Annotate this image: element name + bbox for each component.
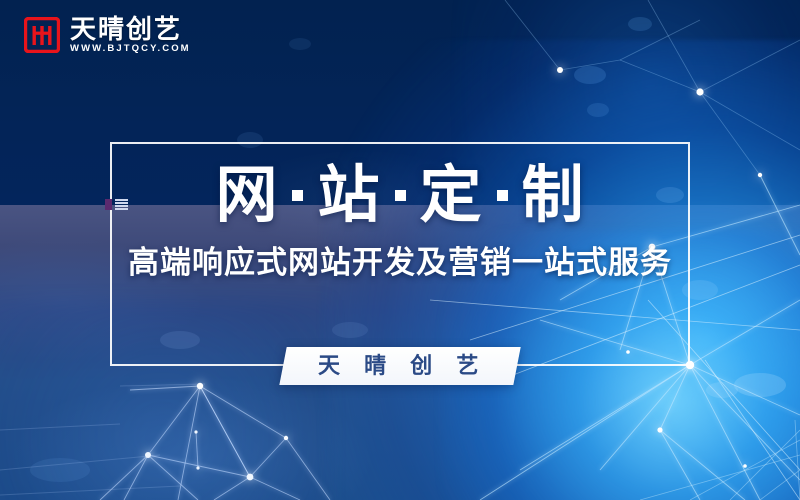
headline-char-2: 站 xyxy=(317,165,380,227)
site-logo[interactable]: 天晴创艺 WWW.BJTQCY.COM xyxy=(24,16,191,54)
brand-badge-row: 天 晴 创 艺 xyxy=(0,344,800,388)
headline-char-4: 制 xyxy=(522,165,585,227)
promo-banner: 天晴创艺 WWW.BJTQCY.COM 网 站 定 制 高端响应式网站开发及营销… xyxy=(0,0,800,500)
square-dot-icon xyxy=(395,190,406,201)
hero-headline: 网 站 定 制 xyxy=(0,165,800,227)
logo-website-url: WWW.BJTQCY.COM xyxy=(70,44,191,54)
square-dot-icon xyxy=(497,190,508,201)
brand-badge-label: 天 晴 创 艺 xyxy=(313,354,487,378)
headline-char-1: 网 xyxy=(215,165,278,227)
tqcy-monogram-icon xyxy=(24,17,60,53)
logo-company-name: 天晴创艺 xyxy=(70,16,191,42)
brand-badge[interactable]: 天 晴 创 艺 xyxy=(279,347,521,385)
hero-text-stack: 网 站 定 制 高端响应式网站开发及营销一站式服务 xyxy=(0,165,800,278)
square-dot-icon xyxy=(292,190,303,201)
logo-wordmark: 天晴创艺 WWW.BJTQCY.COM xyxy=(70,16,191,54)
headline-char-3: 定 xyxy=(420,165,483,227)
hero-subtitle: 高端响应式网站开发及营销一站式服务 xyxy=(0,247,800,278)
